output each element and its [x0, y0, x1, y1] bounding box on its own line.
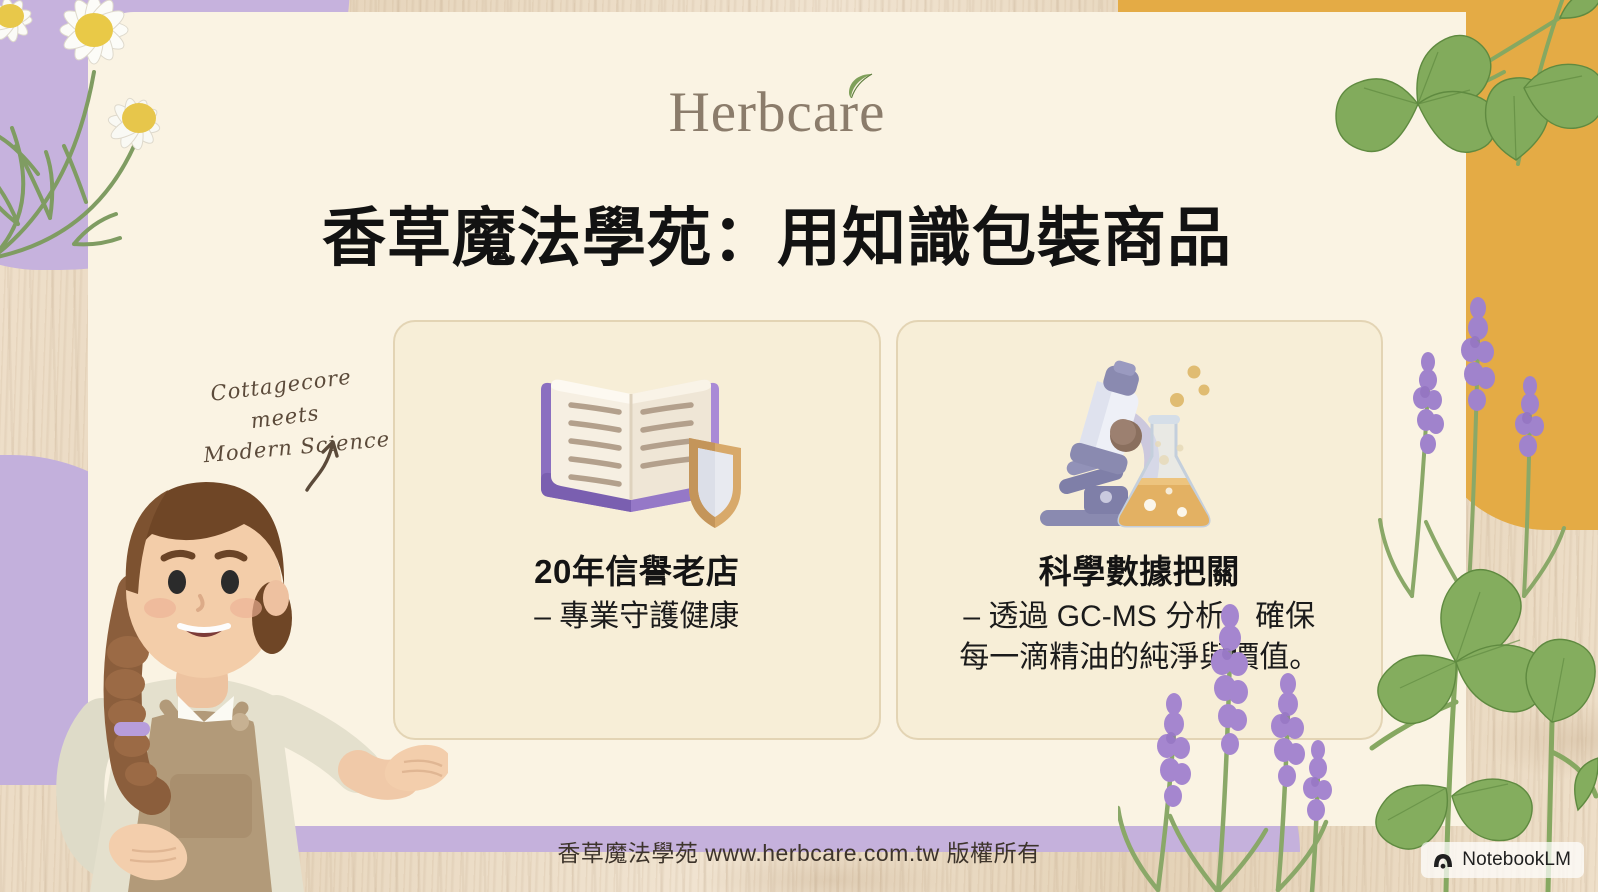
footer-copyright: 香草魔法學苑 www.herbcare.com.tw 版權所有: [0, 834, 1598, 868]
brand-logo: Herbcare: [88, 80, 1466, 145]
book-shield-icon: [519, 360, 754, 535]
notebooklm-icon: [1432, 851, 1454, 869]
feature-card-description: – 專業守護健康: [520, 597, 753, 638]
feature-card-description-line: 每一滴精油的純淨與價值。: [959, 638, 1319, 679]
microscope-flask-icon: [1022, 360, 1257, 535]
feature-card-description: – 透過 GC-MS 分析，確保 每一滴精油的純淨與價值。: [945, 597, 1333, 679]
notebooklm-badge: NotebookLM: [1421, 842, 1584, 878]
woman-presenter-3d-illustration: [28, 422, 448, 892]
slide-canvas: Herbcare 香草魔法學苑：用知識包裝商品 Cottagecore meet…: [0, 0, 1598, 892]
feature-card-title: 科學數據把關: [1039, 545, 1240, 593]
feature-card-science[interactable]: 科學數據把關 – 透過 GC-MS 分析，確保 每一滴精油的純淨與價值。: [896, 320, 1384, 740]
feature-card-title: 20年信譽老店: [534, 545, 739, 593]
feature-card-heritage[interactable]: 20年信譽老店 – 專業守護健康: [393, 320, 881, 740]
leaf-icon: [845, 71, 875, 101]
feature-cards: 20年信譽老店 – 專業守護健康: [393, 320, 1383, 740]
notebooklm-label: NotebookLM: [1462, 849, 1571, 871]
feature-card-description-line: – 透過 GC-MS 分析，確保: [959, 597, 1319, 638]
page-title: 香草魔法學苑：用知識包裝商品: [88, 202, 1466, 276]
